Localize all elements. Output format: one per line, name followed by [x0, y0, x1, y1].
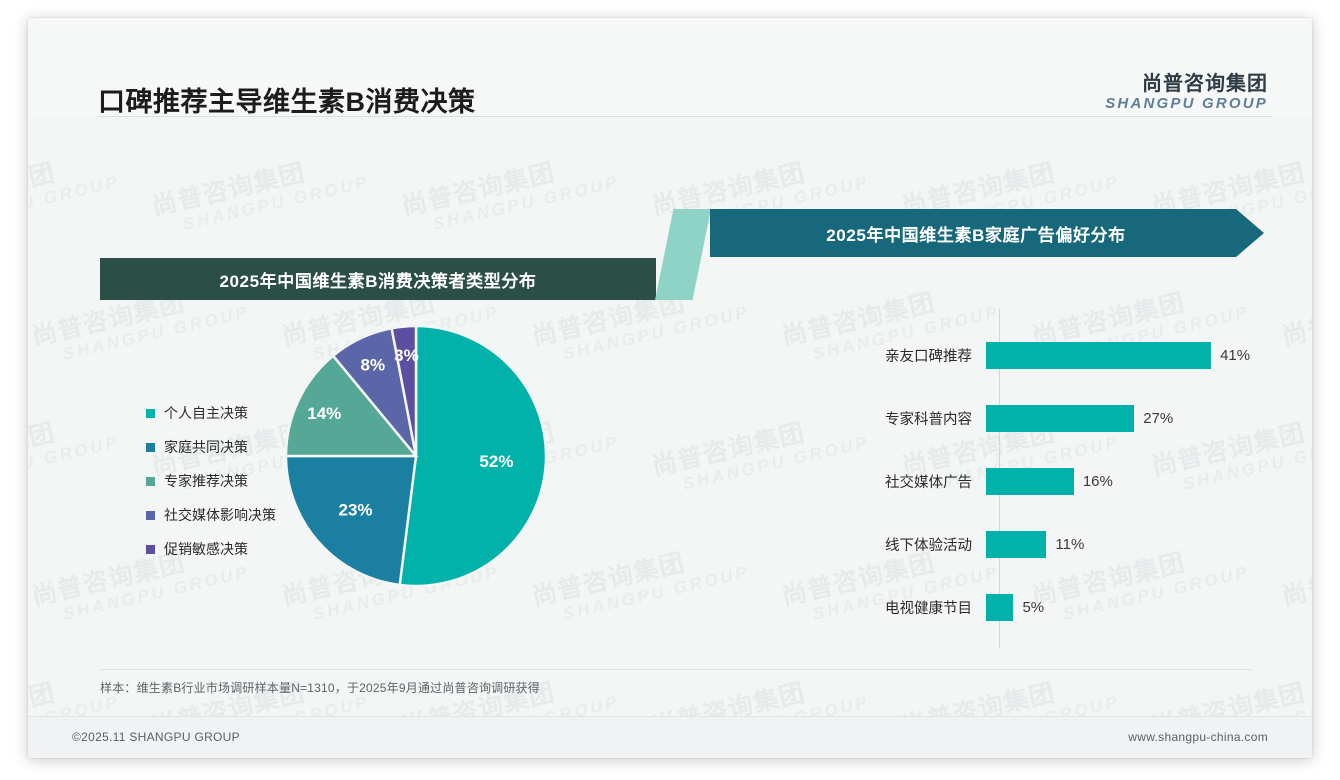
slide-card: 尚普咨询集团SHANGPU GROUP尚普咨询集团SHANGPU GROUP尚普…	[28, 18, 1312, 758]
pie-slice[interactable]	[400, 326, 546, 586]
banner-connector-shape	[655, 209, 711, 300]
legend-item-label: 家庭共同决策	[164, 437, 248, 457]
bar-fill[interactable]	[986, 405, 1134, 432]
legend-item[interactable]: 社交媒体影响决策	[146, 505, 276, 525]
banner-left-label: 2025年中国维生素B消费决策者类型分布	[219, 267, 536, 292]
legend-item-label: 个人自主决策	[164, 403, 248, 423]
bar-category-label: 电视健康节目	[718, 597, 986, 618]
bar-value-label: 41%	[1220, 347, 1250, 364]
legend-item[interactable]: 促销敏感决策	[146, 539, 276, 559]
bar-fill[interactable]	[986, 342, 1211, 369]
pie-slice-label: 3%	[394, 346, 419, 365]
bar-value-label: 16%	[1083, 473, 1113, 490]
bar-chart-row: 社交媒体广告16%	[718, 450, 1278, 513]
bar-value-label: 5%	[1022, 599, 1044, 616]
pie-chart-panel: 个人自主决策家庭共同决策专家推荐决策社交媒体影响决策促销敏感决策 52%23%1…	[100, 318, 700, 658]
legend-item-label: 专家推荐决策	[164, 471, 248, 491]
bar-fill[interactable]	[986, 594, 1013, 621]
legend-swatch-icon	[146, 409, 155, 418]
legend-swatch-icon	[146, 545, 155, 554]
bar-chart-rows: 亲友口碑推荐41%专家科普内容27%社交媒体广告16%线下体验活动11%电视健康…	[718, 324, 1278, 639]
bar-category-label: 社交媒体广告	[718, 471, 986, 492]
legend-swatch-icon	[146, 477, 155, 486]
bar-category-label: 亲友口碑推荐	[718, 345, 986, 366]
banner-left-pie: 2025年中国维生素B消费决策者类型分布	[100, 258, 656, 300]
pie-slice-label: 52%	[479, 452, 513, 471]
pie-slice-label: 23%	[339, 500, 373, 519]
footer-website[interactable]: www.shangpu-china.com	[1128, 730, 1268, 744]
bar-track: 27%	[986, 387, 1278, 450]
source-note-text: 样本：维生素B行业市场调研样本量N=1310，于2025年9月通过尚普咨询调研获…	[100, 679, 1252, 696]
bar-value-label: 11%	[1055, 536, 1084, 553]
legend-swatch-icon	[146, 443, 155, 452]
bar-chart-panel: 亲友口碑推荐41%专家科普内容27%社交媒体广告16%线下体验活动11%电视健康…	[718, 300, 1278, 660]
pie-chart: 52%23%14%8%3%	[282, 322, 550, 590]
bar-value-label: 27%	[1143, 410, 1173, 427]
watermark-text: 尚普咨询集团SHANGPU GROUP	[1278, 269, 1312, 370]
legend-item[interactable]: 个人自主决策	[146, 403, 276, 423]
bar-category-label: 线下体验活动	[718, 534, 986, 555]
watermark-text: 尚普咨询集团SHANGPU GROUP	[1278, 529, 1312, 630]
bar-chart-row: 专家科普内容27%	[718, 387, 1278, 450]
slide-header: 口碑推荐主导维生素B消费决策 尚普咨询集团 SHANGPU GROUP	[28, 18, 1312, 117]
bar-fill[interactable]	[986, 531, 1046, 558]
banner-right-bar: 2025年中国维生素B家庭广告偏好分布	[710, 209, 1264, 257]
pie-slice[interactable]	[286, 456, 416, 585]
logo-chinese-text: 尚普咨询集团	[1105, 73, 1268, 95]
bar-track: 16%	[986, 450, 1278, 513]
pie-slice-label: 8%	[361, 355, 386, 374]
legend-item-label: 社交媒体影响决策	[164, 505, 276, 525]
slide-footer: ©2025.11 SHANGPU GROUP www.shangpu-china…	[28, 716, 1312, 758]
bar-fill[interactable]	[986, 468, 1074, 495]
legend-item[interactable]: 专家推荐决策	[146, 471, 276, 491]
pie-chart-svg: 52%23%14%8%3%	[282, 322, 550, 590]
banner-right-label: 2025年中国维生素B家庭广告偏好分布	[826, 221, 1126, 246]
brand-logo: 尚普咨询集团 SHANGPU GROUP	[1105, 73, 1268, 114]
pie-legend: 个人自主决策家庭共同决策专家推荐决策社交媒体影响决策促销敏感决策	[146, 403, 276, 559]
legend-item-label: 促销敏感决策	[164, 539, 248, 559]
footer-copyright: ©2025.11 SHANGPU GROUP	[72, 730, 240, 744]
legend-swatch-icon	[146, 511, 155, 520]
bar-chart-row: 亲友口碑推荐41%	[718, 324, 1278, 387]
watermark-text: 尚普咨询集团SHANGPU GROUP	[28, 139, 122, 240]
page-title: 口碑推荐主导维生素B消费决策	[98, 80, 476, 119]
bar-chart-row: 电视健康节目5%	[718, 576, 1278, 639]
pie-slice-label: 14%	[307, 404, 341, 423]
watermark-text: 尚普咨询集团SHANGPU GROUP	[398, 139, 622, 240]
bar-track: 5%	[986, 576, 1278, 639]
logo-english-text: SHANGPU GROUP	[1105, 95, 1268, 114]
source-note: 样本：维生素B行业市场调研样本量N=1310，于2025年9月通过尚普咨询调研获…	[100, 679, 1252, 696]
watermark-text: 尚普咨询集团SHANGPU GROUP	[148, 139, 372, 240]
bar-category-label: 专家科普内容	[718, 408, 986, 429]
bar-track: 11%	[986, 513, 1278, 576]
bar-track: 41%	[986, 324, 1278, 387]
legend-item[interactable]: 家庭共同决策	[146, 437, 276, 457]
bar-chart-row: 线下体验活动11%	[718, 513, 1278, 576]
